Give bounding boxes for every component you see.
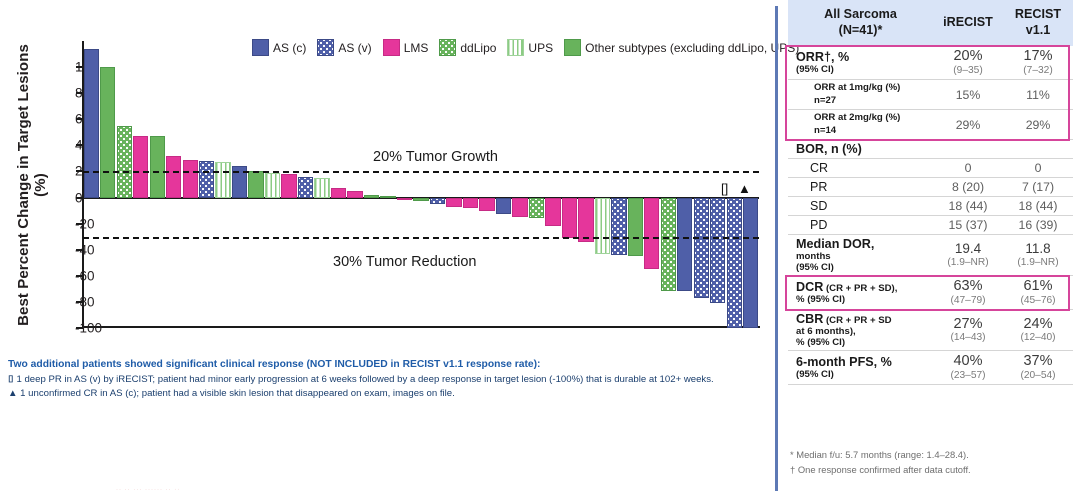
legend-label-ddlipo: ddLipo <box>460 41 496 55</box>
bar-other-18 <box>380 196 395 198</box>
row-label-line3-median-dor: (95% CI) <box>796 262 933 273</box>
row-median-dor-irecist-value: 19.4(1.9–NR) <box>933 235 1003 276</box>
row-orr-1mgkg-irecist-number: 15% <box>933 88 1003 102</box>
row-label-cbr: CBR (CR + PR + SDat 6 months),% (95% CI) <box>788 310 933 351</box>
row-label-dcr: DCR (CR + PR + SD),% (95% CI) <box>788 276 933 310</box>
row-label-main-pd: PD <box>796 218 827 232</box>
row-pfs-6mo-irecist-ci: (23–57) <box>933 370 1003 382</box>
row-label-pd: PD <box>788 216 933 235</box>
legend-label-lms: LMS <box>404 41 429 55</box>
row-sd-recist-value: 18 (44) <box>1003 197 1073 216</box>
y-tick-mark--40 <box>76 249 83 251</box>
header-all-sarcoma: All Sarcoma (N=41)* <box>788 0 933 46</box>
bar-asc-36 <box>677 198 692 292</box>
legend-swatch-ups-icon <box>507 39 524 56</box>
y-tick-mark-100 <box>76 66 83 68</box>
row-pfs-6mo-recist-value: 37%(20–54) <box>1003 351 1073 385</box>
row-dcr-recist-ci: (45–76) <box>1003 295 1073 307</box>
bar-asc-40 <box>743 198 758 328</box>
row-pr-irecist-value: 8 (20) <box>933 178 1003 197</box>
bottom-artifact-text: ·· ·· ··· ······ ·· ·· <box>116 487 180 493</box>
bar-other-17 <box>364 195 379 198</box>
row-median-dor-irecist-ci: (1.9–NR) <box>933 257 1003 269</box>
row-label-sd: SD <box>788 197 933 216</box>
table-header-row: All Sarcoma (N=41)* iRECIST RECIST v1.1 <box>788 0 1073 46</box>
table-body: ORR†, %(95% CI)20%(9–35)17%(7–32)ORR at … <box>788 46 1073 384</box>
header-all-sarcoma-line2: (N=41)* <box>788 23 933 39</box>
bar-lms-26 <box>512 198 527 218</box>
chart-legend: AS (c)AS (v)LMSddLipoUPSOther subtypes (… <box>252 39 806 56</box>
bar-lms-12 <box>281 174 296 197</box>
row-cbr-recist-value: 24%(12–40) <box>1003 310 1073 351</box>
row-label-median-dor: Median DOR,months(95% CI) <box>788 235 933 276</box>
reference-label-30-reduction: 30% Tumor Reduction <box>333 254 476 270</box>
marker-unconfirmed-cr-icon: ▲ <box>738 182 751 195</box>
row-label-line2-orr-1mgkg: n=27 <box>796 95 933 107</box>
row-label-paren-dcr: (CR + PR + SD), <box>823 283 897 294</box>
table-row-cr: CR00 <box>788 159 1073 178</box>
bar-lms-34 <box>644 198 659 270</box>
row-pr-recist-number: 7 (17) <box>1003 180 1073 194</box>
bar-lms-3 <box>133 136 148 197</box>
row-pfs-6mo-irecist-number: 40% <box>933 353 1003 370</box>
bar-lms-15 <box>331 188 346 197</box>
table-row-bor-header: BOR, n (%) <box>788 140 1073 159</box>
row-cbr-recist-number: 24% <box>1003 316 1073 333</box>
bar-asv-7 <box>199 161 214 198</box>
bar-lms-29 <box>562 198 577 238</box>
bar-lms-16 <box>347 191 362 198</box>
waterfall-chart-panel: Best Percent Change in Target Lesions (%… <box>0 0 775 497</box>
table-row-cbr: CBR (CR + PR + SDat 6 months),% (95% CI)… <box>788 310 1073 351</box>
bar-asv-21 <box>430 198 445 205</box>
row-pd-recist-number: 16 (39) <box>1003 218 1073 232</box>
bar-lms-5 <box>166 156 181 198</box>
bar-other-1 <box>100 67 115 197</box>
y-tick-mark--60 <box>76 275 83 277</box>
bar-ddlipo-35 <box>661 198 676 292</box>
row-cr-recist-value: 0 <box>1003 159 1073 178</box>
row-pd-irecist-number: 15 (37) <box>933 218 1003 232</box>
y-tick-mark-60 <box>76 118 83 120</box>
row-median-dor-recist-value: 11.8(1.9–NR) <box>1003 235 1073 276</box>
bar-lms-23 <box>463 198 478 208</box>
bar-lms-28 <box>545 198 560 227</box>
footnote-text-2: 1 unconfirmed CR in AS (c); patient had … <box>20 388 455 399</box>
footnote-line-2: ▲ 1 unconfirmed CR in AS (c); patient ha… <box>8 387 763 401</box>
row-bor-header-irecist-value <box>933 140 1003 159</box>
bar-lms-24 <box>479 198 494 211</box>
row-label-line3-cbr: % (95% CI) <box>796 337 933 348</box>
legend-label-ups: UPS <box>528 41 553 55</box>
row-cr-recist-number: 0 <box>1003 161 1073 175</box>
y-tick-mark--100 <box>76 327 83 329</box>
row-label-line1-orr-2mgkg: ORR at 2mg/kg (%) <box>796 112 933 124</box>
table-row-orr-1mgkg: ORR at 1mg/kg (%)n=2715%11% <box>788 80 1073 110</box>
table-row-median-dor: Median DOR,months(95% CI)19.4(1.9–NR)11.… <box>788 235 1073 276</box>
table-row-pfs-6mo: 6-month PFS, %(95% CI)40%(23–57)37%(20–5… <box>788 351 1073 385</box>
row-dcr-irecist-value: 63%(47–79) <box>933 276 1003 310</box>
bar-ups-8 <box>215 162 230 197</box>
row-pr-recist-value: 7 (17) <box>1003 178 1073 197</box>
row-orr-2mgkg-recist-value: 29% <box>1003 110 1073 140</box>
row-pfs-6mo-recist-ci: (20–54) <box>1003 370 1073 382</box>
row-cbr-irecist-value: 27%(14–43) <box>933 310 1003 351</box>
bar-ddlipo-2 <box>117 126 132 198</box>
bar-ups-31 <box>595 198 610 254</box>
bar-asv-13 <box>298 177 313 198</box>
bar-other-4 <box>150 136 165 197</box>
plot-area: 20% Tumor Growth 30% Tumor Reduction [] … <box>83 41 759 328</box>
y-axis-label: Best Percent Change in Target Lesions (%… <box>15 35 49 335</box>
legend-item-asc: AS (c) <box>252 39 306 56</box>
row-median-dor-irecist-number: 19.4 <box>933 241 1003 257</box>
bar-ddlipo-27 <box>529 198 544 219</box>
row-orr-recist-ci: (7–32) <box>1003 65 1073 77</box>
row-orr-2mgkg-irecist-value: 29% <box>933 110 1003 140</box>
row-label-paren-cbr: (CR + PR + SD <box>823 315 891 326</box>
row-bor-header-recist-value <box>1003 140 1073 159</box>
reference-line-30-reduction <box>83 237 759 239</box>
response-summary-table: All Sarcoma (N=41)* iRECIST RECIST v1.1 … <box>788 0 1073 385</box>
row-label-line2-orr-2mgkg: n=14 <box>796 125 933 137</box>
table-header: All Sarcoma (N=41)* iRECIST RECIST v1.1 <box>788 0 1073 46</box>
row-label-main-bor-header: BOR, n (%) <box>796 142 862 156</box>
table-row-orr-2mgkg: ORR at 2mg/kg (%)n=1429%29% <box>788 110 1073 140</box>
panel-divider <box>775 6 778 491</box>
legend-swatch-other-icon <box>564 39 581 56</box>
row-pfs-6mo-irecist-value: 40%(23–57) <box>933 351 1003 385</box>
y-tick-mark-0 <box>76 197 83 199</box>
row-label-bor-header: BOR, n (%) <box>788 140 933 159</box>
row-label-main-pr: PR <box>796 180 827 194</box>
table-footnote-1: * Median f/u: 5.7 months (range: 1.4–28.… <box>790 448 971 463</box>
bar-lms-6 <box>183 160 198 198</box>
table-row-pd: PD15 (37)16 (39) <box>788 216 1073 235</box>
bar-asv-37 <box>694 198 709 298</box>
row-label-main-sd: SD <box>796 199 827 213</box>
row-cbr-recist-ci: (12–40) <box>1003 332 1073 344</box>
bar-asc-25 <box>496 198 511 215</box>
marker-deep-pr-icon: [] <box>721 182 728 195</box>
header-all-sarcoma-line1: All Sarcoma <box>788 7 933 23</box>
row-orr-1mgkg-recist-value: 11% <box>1003 80 1073 110</box>
chart-footnotes: Two additional patients showed significa… <box>8 358 763 402</box>
row-label-main-cr: CR <box>796 161 828 175</box>
row-label-main-orr: ORR†, % <box>796 50 849 64</box>
footnote-symbol-triangle: ▲ <box>8 388 18 399</box>
y-tick-mark-80 <box>76 92 83 94</box>
table-row-pr: PR8 (20)7 (17) <box>788 178 1073 197</box>
row-pd-irecist-value: 15 (37) <box>933 216 1003 235</box>
legend-item-ups: UPS <box>507 39 553 56</box>
row-label-orr-1mgkg: ORR at 1mg/kg (%)n=27 <box>788 80 933 110</box>
bar-ups-11 <box>265 173 280 198</box>
row-cr-irecist-value: 0 <box>933 159 1003 178</box>
row-cbr-irecist-ci: (14–43) <box>933 332 1003 344</box>
reference-line-20-growth <box>83 171 759 173</box>
header-recist-line2: v1.1 <box>1003 23 1073 39</box>
row-sd-recist-number: 18 (44) <box>1003 199 1073 213</box>
bar-asv-39 <box>727 198 742 328</box>
legend-item-lms: LMS <box>383 39 429 56</box>
legend-swatch-ddlipo-icon <box>439 39 456 56</box>
footnote-heading: Two additional patients showed significa… <box>8 358 763 373</box>
legend-label-other: Other subtypes (excluding ddLipo, UPS) <box>585 41 799 55</box>
row-orr-2mgkg-irecist-number: 29% <box>933 118 1003 132</box>
row-pfs-6mo-recist-number: 37% <box>1003 353 1073 370</box>
legend-swatch-asc-icon <box>252 39 269 56</box>
row-label-main-cbr: CBR <box>796 312 823 326</box>
row-orr-recist-value: 17%(7–32) <box>1003 46 1073 79</box>
row-median-dor-recist-ci: (1.9–NR) <box>1003 257 1073 269</box>
row-dcr-recist-number: 61% <box>1003 278 1073 295</box>
row-pd-recist-value: 16 (39) <box>1003 216 1073 235</box>
row-label-pfs-6mo: 6-month PFS, %(95% CI) <box>788 351 933 385</box>
header-recist: RECIST v1.1 <box>1003 0 1073 46</box>
y-tick-mark-40 <box>76 144 83 146</box>
row-dcr-irecist-number: 63% <box>933 278 1003 295</box>
row-orr-irecist-value: 20%(9–35) <box>933 46 1003 79</box>
legend-item-asv: AS (v) <box>317 39 371 56</box>
table-row-sd: SD18 (44)18 (44) <box>788 197 1073 216</box>
row-orr-1mgkg-irecist-value: 15% <box>933 80 1003 110</box>
y-tick-mark--80 <box>76 301 83 303</box>
reference-label-20-growth: 20% Tumor Growth <box>373 149 498 165</box>
legend-label-asc: AS (c) <box>273 41 306 55</box>
legend-label-asv: AS (v) <box>338 41 371 55</box>
footnote-text-1: 1 deep PR in AS (v) by iRECIST; patient … <box>16 374 713 385</box>
row-orr-recist-number: 17% <box>1003 48 1073 65</box>
legend-swatch-lms-icon <box>383 39 400 56</box>
bar-lms-30 <box>578 198 593 242</box>
bar-asc-0 <box>84 49 99 198</box>
table-footnote-2: † One response confirmed after data cuto… <box>790 463 971 478</box>
y-tick-mark-20 <box>76 170 83 172</box>
row-label-line2-cbr: at 6 months), <box>796 326 933 337</box>
bar-other-33 <box>628 198 643 257</box>
row-orr-2mgkg-recist-number: 29% <box>1003 118 1073 132</box>
row-label-cr: CR <box>788 159 933 178</box>
footnote-symbol-bracket: ⌷ <box>8 374 14 385</box>
row-label-main-pfs-6mo: 6-month PFS, % <box>796 355 892 369</box>
row-label-orr-2mgkg: ORR at 2mg/kg (%)n=14 <box>788 110 933 140</box>
legend-swatch-asv-icon <box>317 39 334 56</box>
row-label-main-dcr: DCR <box>796 280 823 294</box>
row-label-pr: PR <box>788 178 933 197</box>
row-orr-1mgkg-recist-number: 11% <box>1003 88 1073 102</box>
row-dcr-irecist-ci: (47–79) <box>933 295 1003 307</box>
legend-item-ddlipo: ddLipo <box>439 39 496 56</box>
bar-lms-22 <box>446 198 461 207</box>
row-dcr-recist-value: 61%(45–76) <box>1003 276 1073 310</box>
bar-ups-14 <box>314 178 329 198</box>
bar-other-20 <box>413 198 428 202</box>
header-irecist: iRECIST <box>933 0 1003 46</box>
row-label-line1-orr-1mgkg: ORR at 1mg/kg (%) <box>796 82 933 94</box>
row-label-line2-dcr: % (95% CI) <box>796 294 933 305</box>
row-label-sub-orr: (95% CI) <box>796 64 933 75</box>
table-row-orr: ORR†, %(95% CI)20%(9–35)17%(7–32) <box>788 46 1073 79</box>
row-sd-irecist-number: 18 (44) <box>933 199 1003 213</box>
legend-item-other: Other subtypes (excluding ddLipo, UPS) <box>564 39 799 56</box>
row-sd-irecist-value: 18 (44) <box>933 197 1003 216</box>
header-recist-line1: RECIST <box>1003 7 1073 23</box>
y-tick-mark--20 <box>76 223 83 225</box>
table-footnotes: * Median f/u: 5.7 months (range: 1.4–28.… <box>790 448 971 477</box>
bar-asv-38 <box>710 198 725 304</box>
bar-asv-32 <box>611 198 626 255</box>
row-orr-irecist-ci: (9–35) <box>933 65 1003 77</box>
row-median-dor-recist-number: 11.8 <box>1003 241 1073 257</box>
row-orr-irecist-number: 20% <box>933 48 1003 65</box>
row-label-main-median-dor: Median DOR, <box>796 237 874 251</box>
footnote-line-1: ⌷ 1 deep PR in AS (v) by iRECIST; patien… <box>8 373 763 387</box>
bar-other-10 <box>248 171 263 197</box>
row-cr-irecist-number: 0 <box>933 161 1003 175</box>
response-summary-table-panel: All Sarcoma (N=41)* iRECIST RECIST v1.1 … <box>788 0 1073 497</box>
table-row-dcr: DCR (CR + PR + SD),% (95% CI)63%(47–79)6… <box>788 276 1073 310</box>
bar-lms-19 <box>397 198 412 200</box>
row-pr-irecist-number: 8 (20) <box>933 180 1003 194</box>
row-label-line2-pfs-6mo: (95% CI) <box>796 369 933 380</box>
row-label-line2-median-dor: months <box>796 251 933 262</box>
row-label-orr: ORR†, %(95% CI) <box>788 46 933 79</box>
row-cbr-irecist-number: 27% <box>933 316 1003 333</box>
